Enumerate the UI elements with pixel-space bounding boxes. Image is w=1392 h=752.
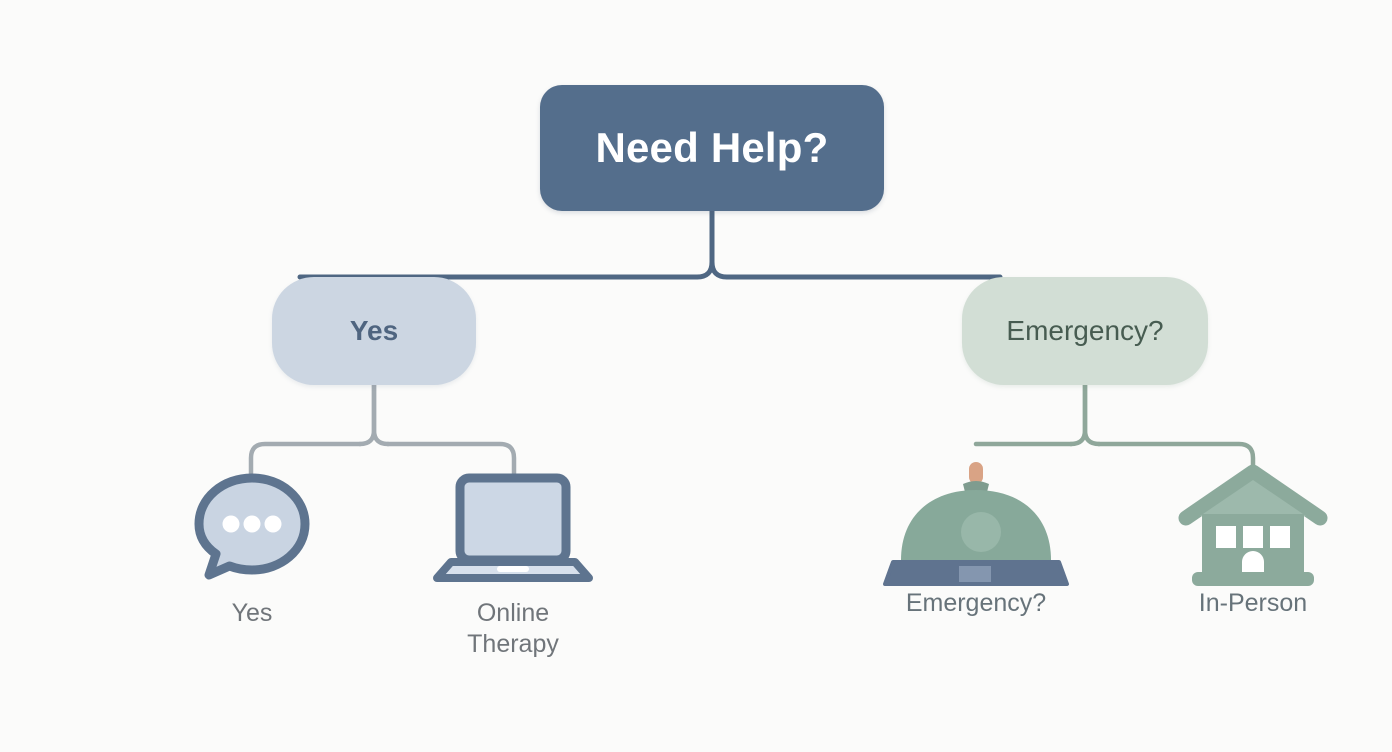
leaf-in-person[interactable]: In-Person xyxy=(1153,460,1353,619)
emergency-bell-icon xyxy=(881,460,1071,572)
leaf-emergency[interactable]: Emergency? xyxy=(876,460,1076,619)
node-emergency-label: Emergency? xyxy=(1006,316,1163,347)
edge-yes-stem-right xyxy=(374,385,388,444)
chat-bubble-icon xyxy=(187,470,317,582)
edge-yes-stem-left xyxy=(360,385,374,444)
node-need-help-label: Need Help? xyxy=(595,125,828,171)
node-emergency[interactable]: Emergency? xyxy=(962,277,1208,385)
edge-emergency-stem-right xyxy=(1085,385,1099,444)
leaf-online-therapy[interactable]: Online Therapy xyxy=(413,470,613,660)
node-yes-label: Yes xyxy=(350,316,398,347)
node-yes[interactable]: Yes xyxy=(272,277,476,385)
edge-emergency-stem-left xyxy=(1071,385,1085,444)
diagram-canvas: Need Help? Yes Emergency? Yes Onl xyxy=(0,0,1392,752)
leaf-in-person-label: In-Person xyxy=(1199,588,1307,619)
leaf-emergency-label: Emergency? xyxy=(906,588,1046,619)
leaf-online-therapy-label: Online Therapy xyxy=(467,598,559,660)
leaf-yes-label: Yes xyxy=(232,598,273,629)
node-need-help[interactable]: Need Help? xyxy=(540,85,884,211)
edge-root-stem-mirror xyxy=(697,211,712,277)
clinic-building-icon xyxy=(1178,460,1328,572)
laptop-icon xyxy=(433,470,593,582)
leaf-yes[interactable]: Yes xyxy=(152,470,352,629)
edge-root-stem xyxy=(712,211,727,277)
